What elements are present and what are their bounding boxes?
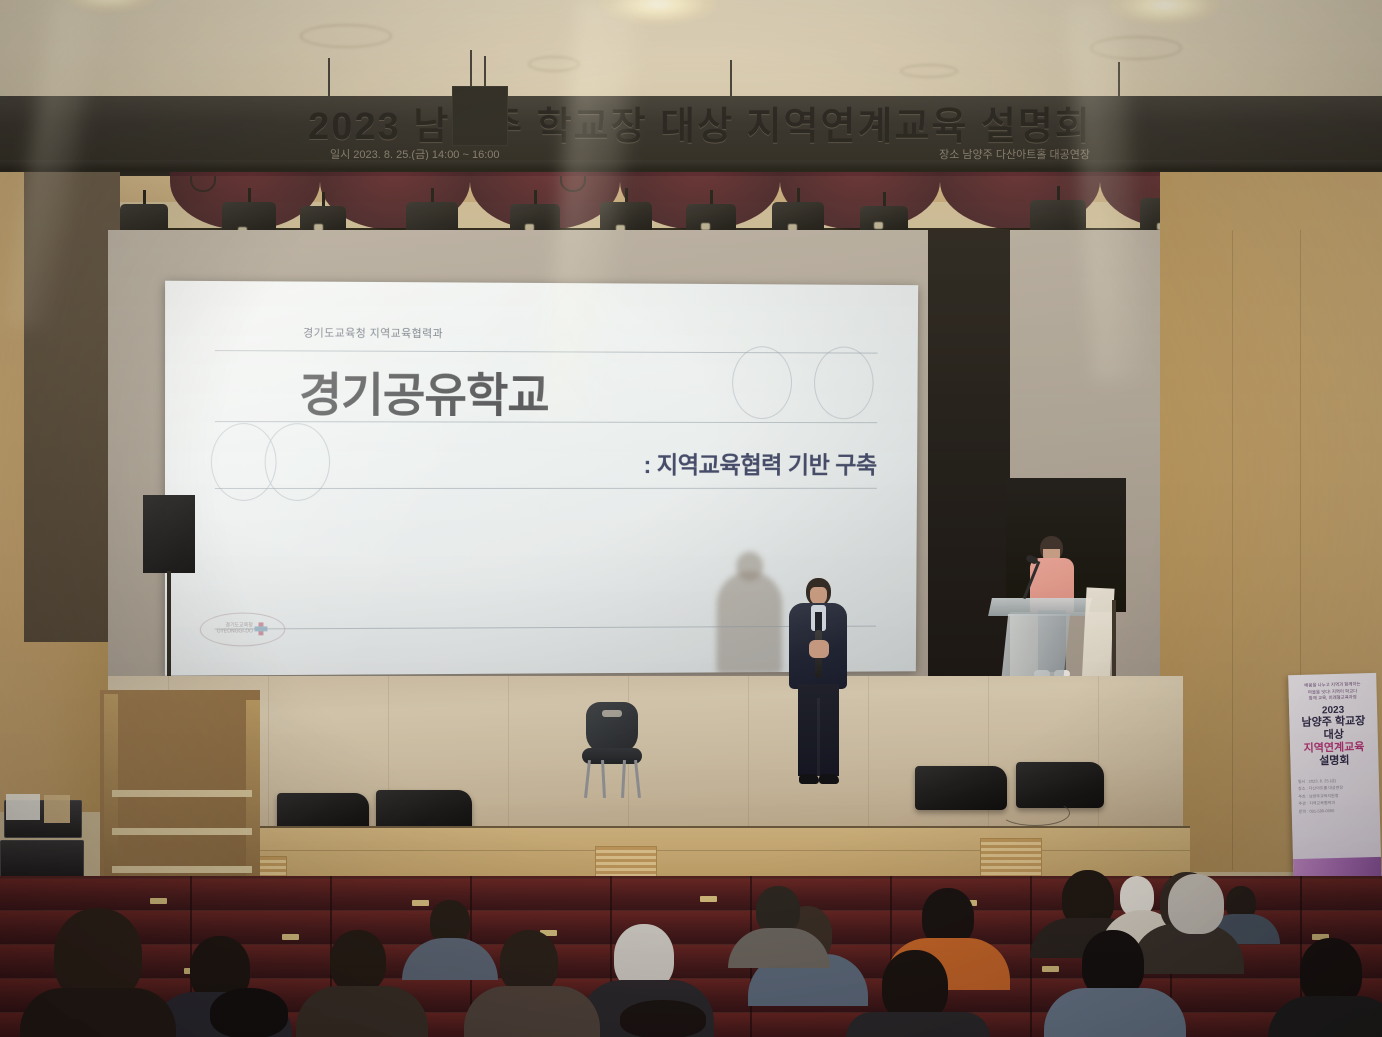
audience-shoulders	[464, 986, 600, 1037]
banner-equipment-block	[452, 86, 508, 146]
audience-head	[210, 988, 288, 1037]
rollup-detail: 문의 : 031-590-0000	[1299, 806, 1373, 816]
conference-photo: 2023 남양주 학교장 대상 지역연계교육 설명회 일시 2023. 8. 2…	[0, 0, 1382, 1037]
audience-head	[756, 886, 800, 934]
wall-seam	[1232, 230, 1233, 870]
stair-step	[112, 790, 252, 797]
seat-number-tag	[150, 898, 167, 904]
rollup-banner: 배움을 나누고 지역과 함께하는 마을을 잇다! 지역이 학교다 함께 교육, …	[1288, 673, 1382, 893]
seat-number-tag	[412, 900, 429, 906]
presenter-shadow-on-screen	[716, 571, 782, 674]
rollup-details: 일시 : 2023. 8. 25.(금) 장소 : 다산아트홀 대공연장 주최 …	[1291, 767, 1380, 815]
ceiling-recess	[300, 24, 392, 48]
banner-antenna	[730, 60, 732, 100]
ceiling-recess	[900, 64, 958, 78]
slide-header: 경기도교육청 지역교육협력과	[303, 325, 443, 342]
stair-step	[112, 866, 252, 873]
audience-shoulders	[846, 1012, 990, 1037]
audience-shoulders	[20, 988, 176, 1037]
ceiling-recess	[528, 56, 580, 72]
slide-rule	[215, 488, 877, 489]
audience-head	[620, 1000, 706, 1037]
empty-stage-chair	[580, 702, 644, 798]
slide-logo-mark-icon	[255, 623, 268, 636]
seat-number-tag	[1042, 966, 1059, 972]
slide-decoration-circle	[265, 423, 331, 501]
hall-banner-title-text: 2023 남양주 학교장 대상 지역연계교육 설명회	[308, 96, 1092, 148]
audience-head	[330, 930, 386, 992]
presenter-with-microphone	[789, 578, 847, 792]
slide-title: 경기공유학교	[299, 356, 549, 425]
seat-number-tag	[282, 934, 299, 940]
seat-number-tag	[700, 896, 717, 902]
left-wing-shadow	[24, 172, 120, 642]
slide-logo-line2: GYEONGGI-DO	[217, 629, 253, 635]
stair-step	[112, 828, 252, 835]
av-flight-case	[0, 840, 84, 880]
audience-shoulders	[296, 986, 428, 1037]
hall-banner-title: 2023 남양주 학교장 대상 지역연계교육 설명회	[250, 96, 1150, 148]
audience-head	[1168, 874, 1224, 934]
floor-monitor-speaker	[915, 766, 1007, 810]
ceiling-recess	[1090, 36, 1182, 60]
speaker-cable	[1000, 800, 1070, 826]
stage-vent-grille	[980, 838, 1042, 880]
rollup-micro-line3: 함께 교육, 미래형교육과정	[1289, 694, 1377, 703]
audience-shoulders	[1044, 988, 1186, 1037]
audience-head	[500, 930, 558, 994]
slide-subtitle: : 지역교육협력 기반 구축	[643, 445, 876, 480]
slide-logo: 경기도교육청 GYEONGGI-DO	[199, 612, 284, 646]
banner-antenna	[328, 58, 330, 100]
banner-antenna	[1118, 62, 1120, 100]
rollup-line1: 남양주 학교장	[1289, 715, 1377, 730]
wall-notice	[6, 794, 40, 820]
slide-decoration-circle	[814, 347, 874, 420]
slide-decoration-circle	[732, 346, 792, 419]
slide-rule	[215, 350, 877, 354]
wall-notice	[44, 795, 70, 823]
